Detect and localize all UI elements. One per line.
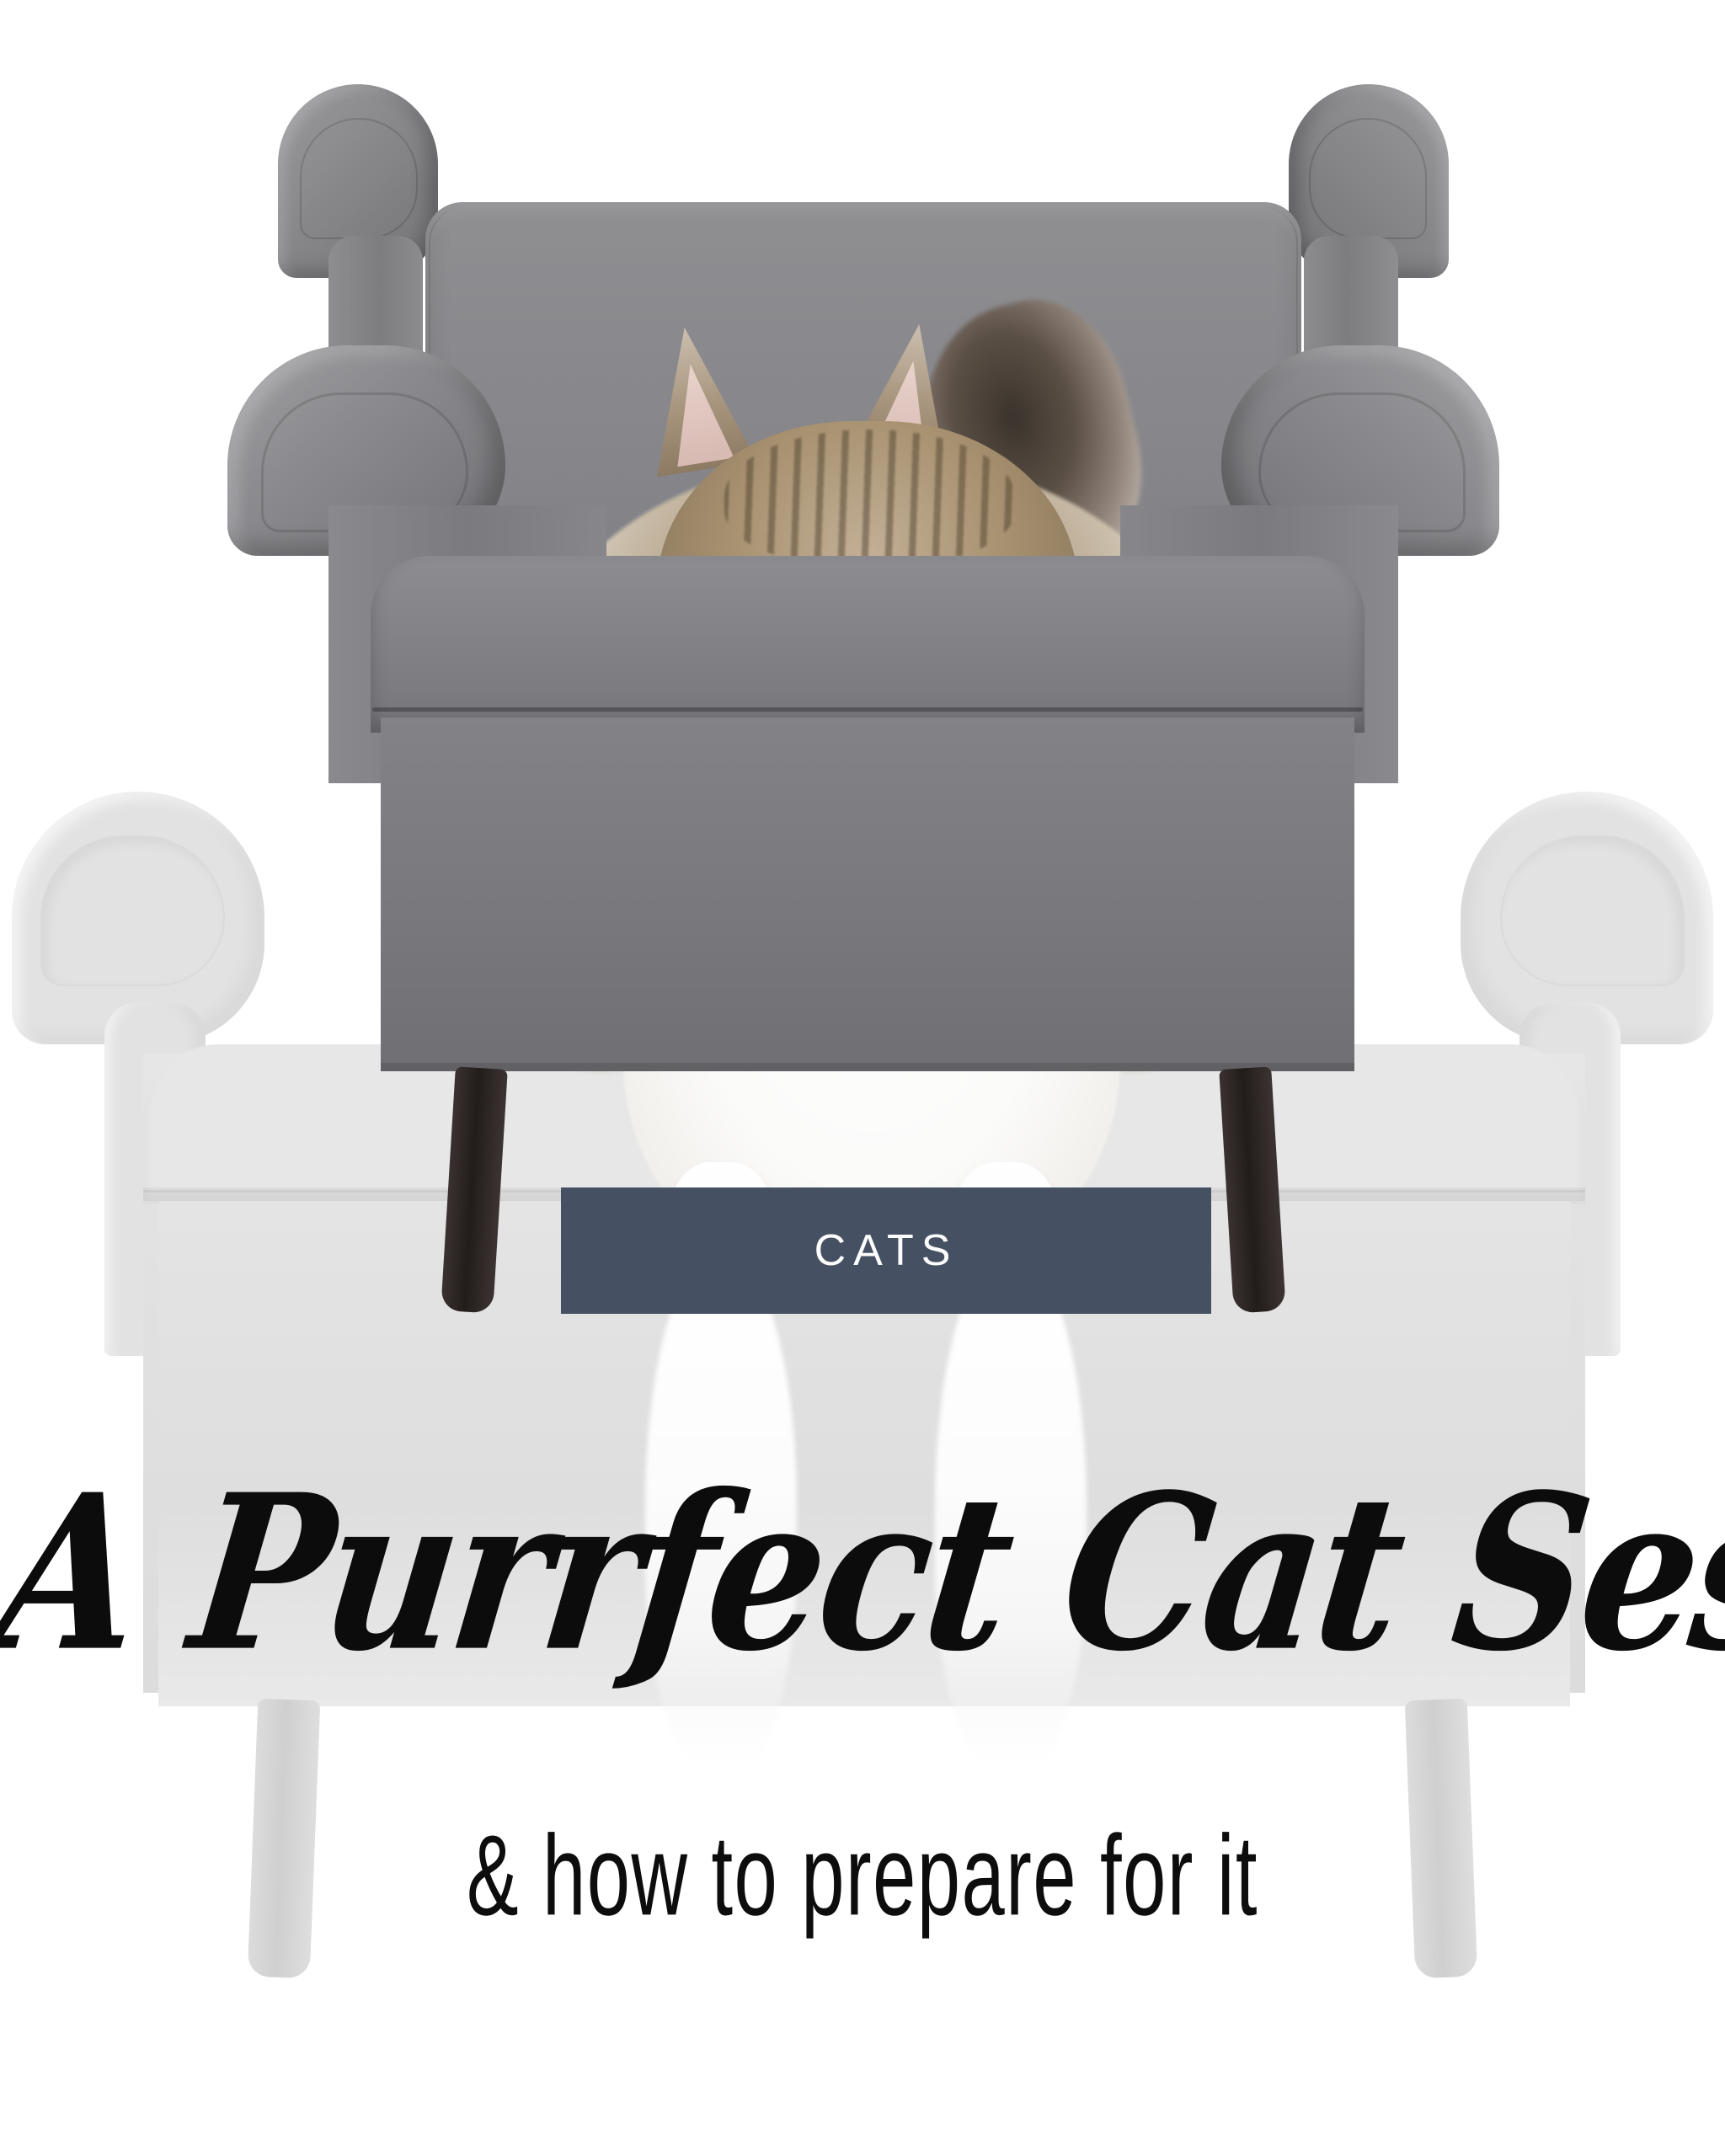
chair-seat-cushion [371,556,1365,733]
category-badge[interactable]: CATS [561,1187,1211,1314]
foreground-cat-armchair-photo [227,84,1499,1179]
chair-base-skirt [381,718,1354,1071]
chair-seat-seam [372,707,1363,712]
cat-forehead-tabby-stripes [724,430,1015,564]
category-badge-label: CATS [814,1225,959,1276]
page-title: A Purrfect Cat Session [0,1466,1725,1680]
pin-graphic-canvas: CATS A Purrfect Cat Session & how to pre… [0,0,1725,2156]
page-subtitle: & how to prepare for it [242,1819,1484,1934]
